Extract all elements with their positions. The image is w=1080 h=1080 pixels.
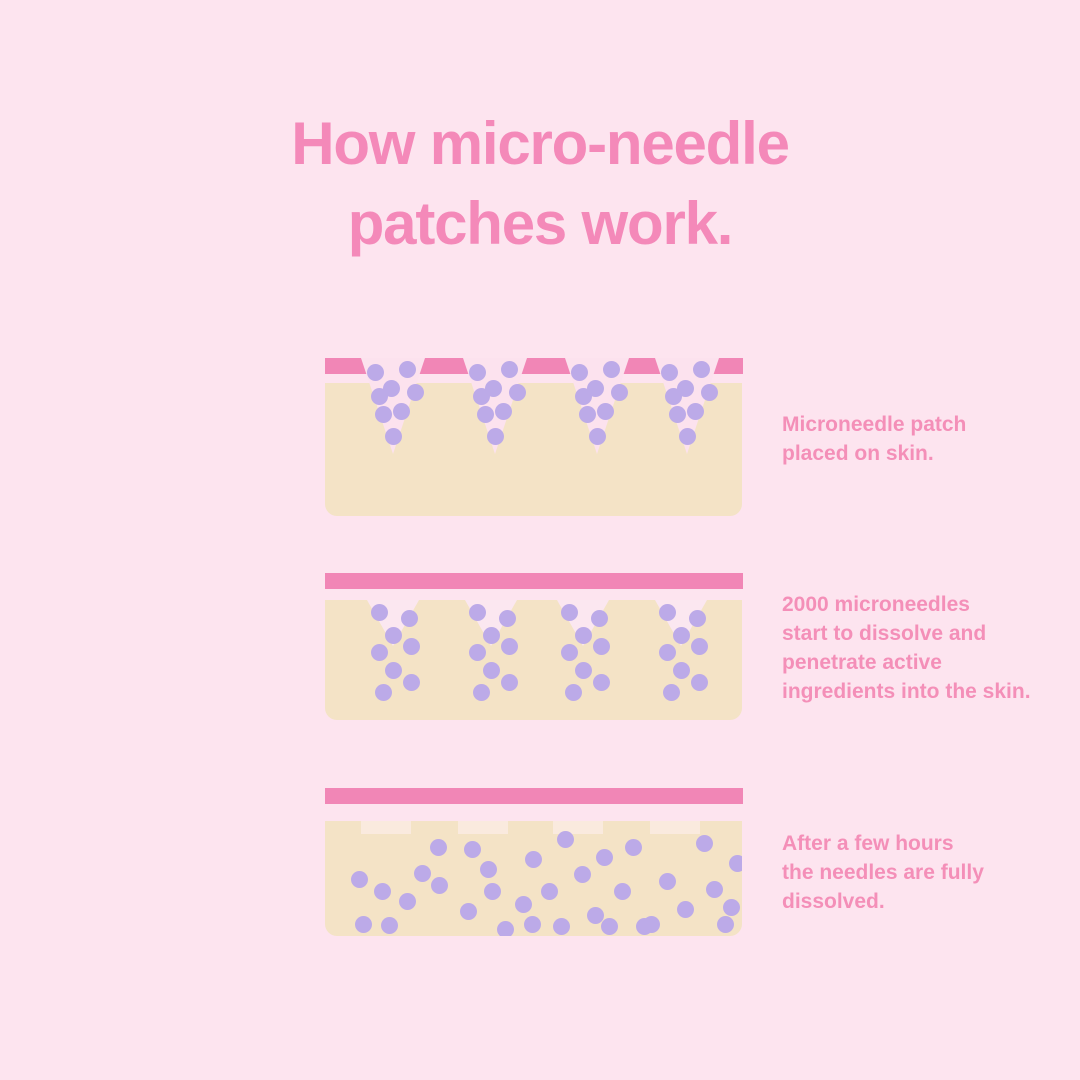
- ingredient-dot: [663, 684, 680, 701]
- ingredient-dot: [593, 674, 610, 691]
- diagram-step-2: [325, 573, 743, 731]
- ingredient-dot: [524, 916, 541, 933]
- ingredient-dot: [414, 865, 431, 882]
- ingredient-dot: [729, 855, 742, 872]
- ingredient-dot: [375, 684, 392, 701]
- ingredient-dot: [601, 918, 618, 935]
- needle-mark-4: [650, 821, 700, 834]
- ingredient-dot: [385, 662, 402, 679]
- ingredient-dot: [460, 903, 477, 920]
- ingredient-dot: [371, 388, 388, 405]
- ingredient-dot: [367, 364, 384, 381]
- ingredient-dot: [553, 918, 570, 935]
- ingredient-dot: [579, 406, 596, 423]
- caption-line: After a few hours: [782, 829, 1052, 858]
- ingredient-dot: [483, 662, 500, 679]
- page-title-line-1: How micro-needle: [0, 104, 1080, 184]
- ingredient-dot: [399, 361, 416, 378]
- page-title: How micro-needle patches work.: [0, 104, 1080, 264]
- ingredient-dot: [487, 428, 504, 445]
- skin-layer: [325, 821, 742, 936]
- ingredient-dot: [591, 610, 608, 627]
- caption-step-3: After a few hours the needles are fully …: [782, 829, 1052, 916]
- caption-line: the needles are fully: [782, 858, 1052, 887]
- ingredient-dot: [679, 428, 696, 445]
- patch-gap-strip: [325, 589, 743, 600]
- caption-line: 2000 microneedles: [782, 590, 1052, 619]
- ingredient-dot: [596, 849, 613, 866]
- ingredient-dot: [557, 831, 574, 848]
- ingredient-dot: [469, 604, 486, 621]
- ingredient-dot: [589, 428, 606, 445]
- caption-line: dissolved.: [782, 887, 1052, 916]
- ingredient-dot: [541, 883, 558, 900]
- ingredient-dot: [509, 384, 526, 401]
- ingredient-dot: [473, 684, 490, 701]
- ingredient-dot: [706, 881, 723, 898]
- ingredient-dot: [371, 604, 388, 621]
- ingredient-dot: [351, 871, 368, 888]
- caption-line: penetrate active: [782, 648, 1052, 677]
- step-patch-placed: Microneedle patch placed on skin.: [0, 358, 1080, 538]
- ingredient-dot: [393, 403, 410, 420]
- ingredient-dot: [717, 916, 734, 933]
- ingredient-dot: [723, 899, 740, 916]
- ingredient-dot: [677, 901, 694, 918]
- ingredient-dot: [497, 921, 514, 936]
- infographic-root: How micro-needle patches work.: [0, 0, 1080, 1080]
- caption-step-1: Microneedle patch placed on skin.: [782, 410, 1052, 468]
- ingredient-dot: [696, 835, 713, 852]
- ingredient-dot: [597, 403, 614, 420]
- ingredient-dot: [480, 861, 497, 878]
- page-title-line-2: patches work.: [0, 184, 1080, 264]
- ingredient-dot: [571, 364, 588, 381]
- step-needles-dissolving: 2000 microneedles start to dissolve and …: [0, 573, 1080, 753]
- caption-line: Microneedle patch: [782, 410, 1052, 439]
- caption-line: start to dissolve and: [782, 619, 1052, 648]
- needle-4: [655, 358, 719, 458]
- ingredient-dot: [691, 674, 708, 691]
- ingredient-dot: [636, 918, 653, 935]
- ingredient-dot: [375, 406, 392, 423]
- ingredient-dot: [659, 604, 676, 621]
- ingredient-dot: [687, 403, 704, 420]
- ingredient-dot: [565, 684, 582, 701]
- ingredient-dot: [689, 610, 706, 627]
- ingredient-dot: [473, 388, 490, 405]
- ingredient-dot: [399, 893, 416, 910]
- ingredient-dot: [603, 361, 620, 378]
- ingredient-dot: [659, 873, 676, 890]
- caption-line: placed on skin.: [782, 439, 1052, 468]
- needle-1: [361, 358, 425, 458]
- ingredient-dot: [484, 883, 501, 900]
- patch-bar: [325, 573, 743, 589]
- ingredient-dot: [661, 364, 678, 381]
- caption-step-2: 2000 microneedles start to dissolve and …: [782, 590, 1052, 706]
- ingredient-dot: [495, 403, 512, 420]
- ingredient-dot: [499, 610, 516, 627]
- ingredient-dot: [669, 406, 686, 423]
- step-needles-dissolved: After a few hours the needles are fully …: [0, 788, 1080, 968]
- caption-line: ingredients into the skin.: [782, 677, 1052, 706]
- ingredient-dot: [575, 627, 592, 644]
- ingredient-dot: [525, 851, 542, 868]
- ingredient-dot: [625, 839, 642, 856]
- ingredient-dot: [403, 674, 420, 691]
- ingredient-dot: [614, 883, 631, 900]
- ingredient-dot: [371, 644, 388, 661]
- needle-channel-3: [557, 600, 621, 720]
- ingredient-dot: [464, 841, 481, 858]
- ingredient-dot: [385, 627, 402, 644]
- needle-channel-4: [655, 600, 719, 720]
- ingredient-dot: [693, 361, 710, 378]
- ingredient-dot: [515, 896, 532, 913]
- ingredient-dot: [611, 384, 628, 401]
- ingredient-dot: [381, 917, 398, 934]
- patch-bar: [325, 788, 743, 804]
- ingredient-dot: [501, 361, 518, 378]
- ingredient-dot: [501, 638, 518, 655]
- ingredient-dot: [575, 388, 592, 405]
- diagram-step-3: [325, 788, 743, 946]
- ingredient-dot: [659, 644, 676, 661]
- ingredient-dot: [469, 644, 486, 661]
- ingredient-dot: [407, 384, 424, 401]
- ingredient-dot: [385, 428, 402, 445]
- ingredient-dot: [374, 883, 391, 900]
- ingredient-dot: [403, 638, 420, 655]
- ingredient-dot: [469, 364, 486, 381]
- needle-mark-1: [361, 821, 411, 834]
- ingredient-dot: [477, 406, 494, 423]
- ingredient-dot: [355, 916, 372, 933]
- ingredient-dot: [574, 866, 591, 883]
- ingredient-dot: [561, 644, 578, 661]
- ingredient-dot: [701, 384, 718, 401]
- ingredient-dot: [673, 627, 690, 644]
- ingredient-dot: [593, 638, 610, 655]
- needle-channel-2: [465, 600, 529, 720]
- ingredient-dot: [575, 662, 592, 679]
- diagram-step-1: [325, 358, 743, 516]
- ingredient-dot: [501, 674, 518, 691]
- ingredient-dot: [665, 388, 682, 405]
- ingredient-dot: [483, 627, 500, 644]
- needle-2: [463, 358, 527, 458]
- ingredient-dot: [401, 610, 418, 627]
- ingredient-dot: [431, 877, 448, 894]
- ingredient-dot: [691, 638, 708, 655]
- ingredient-dot: [561, 604, 578, 621]
- needle-mark-2: [458, 821, 508, 834]
- needle-3: [565, 358, 629, 458]
- ingredient-dot: [673, 662, 690, 679]
- ingredient-dot: [430, 839, 447, 856]
- patch-gap-strip: [325, 804, 743, 821]
- needle-channel-1: [367, 600, 431, 720]
